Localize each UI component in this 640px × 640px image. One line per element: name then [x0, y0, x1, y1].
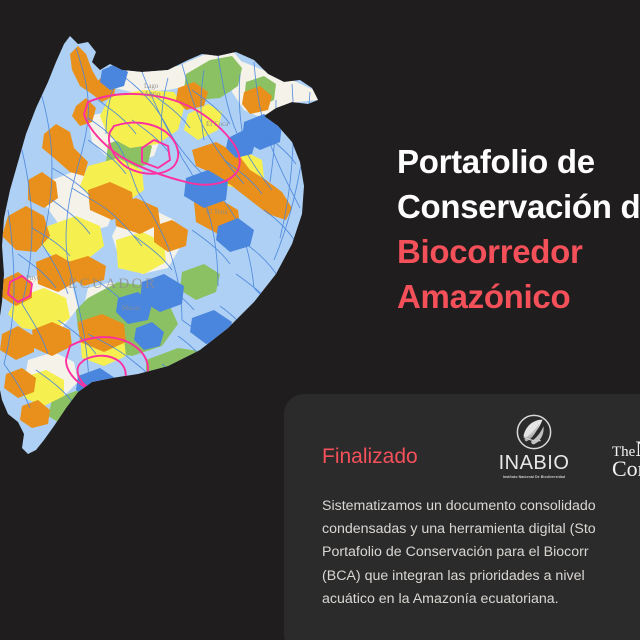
inabio-subline-prefix: Instituto Nacional De: [503, 475, 541, 479]
tnc-line-2: Conserva: [612, 459, 640, 478]
description-line: Portafolio de Conservación para el Bioco…: [322, 541, 640, 564]
description-line: acuático en la Amazonía ecuatoriana.: [322, 588, 640, 611]
inabio-emblem-icon: [515, 413, 553, 451]
title-line-3: Biocorredor: [397, 229, 640, 274]
title-line-4: Amazónico: [397, 274, 640, 319]
map-label-country: ECUADOR: [68, 276, 157, 292]
partner-logo-row: INABIO Instituto Nacional De Biodiversid…: [498, 413, 640, 480]
status-badge: Finalizado: [322, 443, 418, 471]
map-label-tena: El Tena: [206, 208, 228, 216]
map-label-el-coca: El Coca: [206, 120, 229, 128]
slide-canvas: Lago Agrio El Coca El Tena Puyo Macas EC…: [0, 0, 640, 640]
description-line: (BCA) que integran las prioridades a niv…: [322, 565, 640, 588]
inabio-logo: INABIO Instituto Nacional De Biodiversid…: [498, 413, 570, 480]
card-header: Finalizado INABIO Instituto Nacional De …: [322, 443, 640, 477]
map-label-lago-agrio: Lago: [144, 82, 159, 90]
card-description: Sistematizamos un documento consolidado …: [322, 495, 640, 611]
inabio-wordmark: INABIO: [498, 453, 570, 474]
description-line: condensadas y una herramienta digital (S…: [322, 518, 640, 541]
inabio-subline: Instituto Nacional De Biodiversidad: [498, 474, 570, 480]
the-nature-conservancy-logo: TheNatu Conserva: [612, 413, 640, 478]
map-label-lago-agrio-2: Agrio: [144, 90, 161, 98]
title-line-2: Conservación d: [397, 184, 640, 229]
inabio-subline-emphasis: Biodiversidad: [541, 475, 565, 479]
page-title: Portafolio de Conservación d Biocorredor…: [397, 139, 640, 319]
map-label-puyo: Puyo: [26, 274, 41, 282]
conservation-priority-map: Lago Agrio El Coca El Tena Puyo Macas EC…: [0, 30, 322, 490]
map-label-macas: Macas: [122, 304, 141, 312]
project-info-card: Finalizado INABIO Instituto Nacional De …: [284, 394, 640, 640]
description-line: Sistematizamos un documento consolidado: [322, 495, 640, 518]
title-line-1: Portafolio de: [397, 139, 640, 184]
